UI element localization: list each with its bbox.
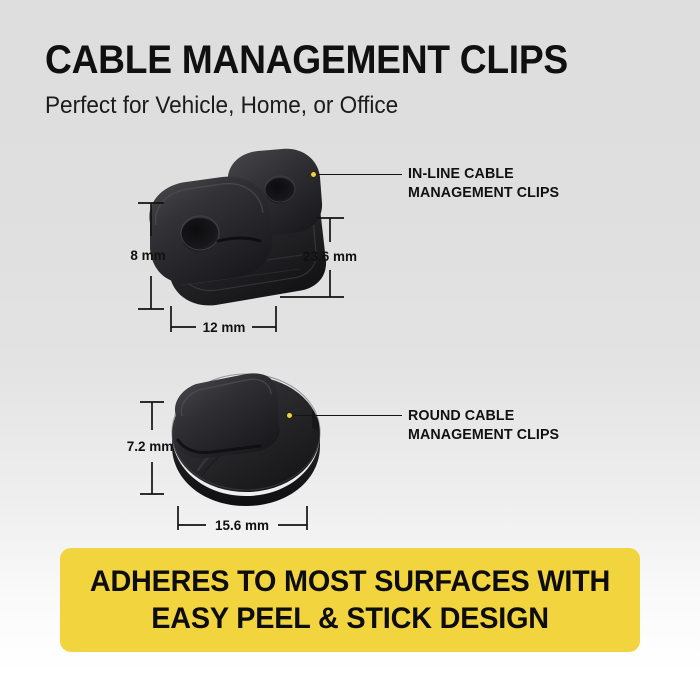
callout-dot-inline: [311, 172, 316, 177]
page-subtitle: Perfect for Vehicle, Home, or Office: [45, 92, 628, 120]
feature-banner: ADHERES TO MOST SURFACES WITH EASY PEEL …: [60, 548, 640, 652]
callout-round-line2: MANAGEMENT CLIPS: [408, 425, 559, 444]
callout-dot-round: [287, 413, 292, 418]
dimension-text-inline-height-right: 23.6 mm: [303, 249, 357, 264]
header-block: CABLE MANAGEMENT CLIPS Perfect for Vehic…: [45, 38, 665, 120]
callout-inline-line1: IN-LINE CABLE: [408, 164, 559, 183]
callout-leader-round: [294, 415, 402, 416]
dimension-inline-height-left: 8 mm: [118, 196, 178, 316]
product-image-round-clip: [160, 372, 340, 512]
dimension-text-inline-width: 12 mm: [203, 320, 246, 335]
callout-inline-line2: MANAGEMENT CLIPS: [408, 183, 559, 202]
dimension-round-height: 7.2 mm: [120, 396, 184, 500]
dimension-inline-height-right: 23.6 mm: [282, 212, 402, 304]
product-infographic: CABLE MANAGEMENT CLIPS Perfect for Vehic…: [0, 0, 700, 700]
dimension-text-round-width: 15.6 mm: [215, 518, 269, 533]
page-title: CABLE MANAGEMENT CLIPS: [45, 38, 622, 82]
callout-leader-inline: [318, 174, 402, 175]
callout-label-inline: IN-LINE CABLE MANAGEMENT CLIPS: [408, 164, 559, 202]
dimension-text-round-height: 7.2 mm: [127, 439, 174, 454]
callout-label-round: ROUND CABLE MANAGEMENT CLIPS: [408, 406, 559, 444]
dimension-text-inline-height-left: 8 mm: [130, 248, 165, 263]
round-clip-illustration: [160, 372, 340, 512]
banner-line-1: ADHERES TO MOST SURFACES WITH: [90, 563, 610, 600]
dimension-inline-width: 12 mm: [164, 300, 294, 340]
banner-line-2: EASY PEEL & STICK DESIGN: [151, 600, 549, 637]
callout-round-line1: ROUND CABLE: [408, 406, 559, 425]
dimension-round-width: 15.6 mm: [170, 502, 320, 536]
